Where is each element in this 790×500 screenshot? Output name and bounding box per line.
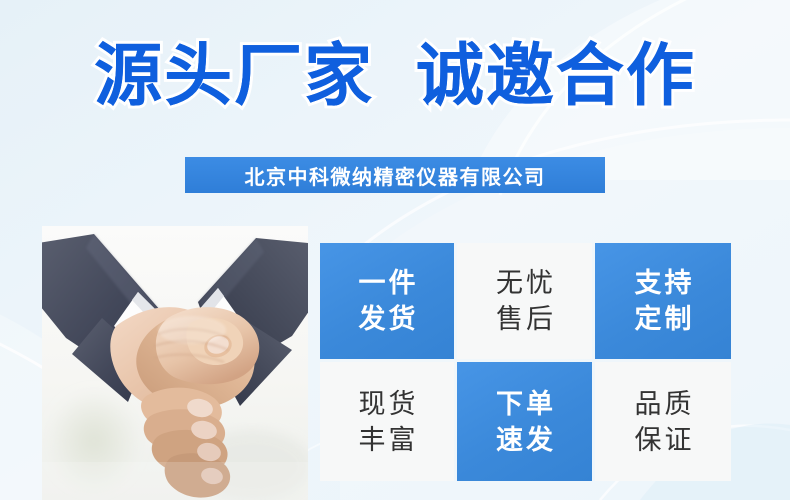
feature-tile-5-line1: 下单	[493, 386, 556, 422]
feature-tile-6-line1: 品质	[632, 386, 695, 422]
feature-tile-1-line1: 一件	[356, 265, 419, 301]
feature-tile-2[interactable]: 无忧 售后	[457, 243, 592, 359]
feature-tile-6-line2: 保证	[632, 422, 695, 458]
company-name-bar: 北京中科微纳精密仪器有限公司	[185, 157, 605, 193]
feature-tile-1-line2: 发货	[356, 301, 419, 337]
company-name-text: 北京中科微纳精密仪器有限公司	[245, 161, 546, 190]
feature-tile-3[interactable]: 支持 定制	[595, 243, 731, 359]
feature-grid: 一件 发货 无忧 售后 支持 定制 现货 丰富 下单 速发 品质 保证	[320, 243, 731, 495]
feature-tile-2-line1: 无忧	[493, 265, 556, 301]
page-title: 源头厂家 诚邀合作	[0, 36, 790, 116]
feature-tile-1[interactable]: 一件 发货	[320, 243, 454, 359]
feature-tile-5-line2: 速发	[493, 422, 556, 458]
handshake-photo	[42, 226, 308, 500]
feature-tile-4-line1: 现货	[356, 386, 419, 422]
feature-tile-4[interactable]: 现货 丰富	[320, 362, 454, 481]
feature-tile-5[interactable]: 下单 速发	[457, 362, 592, 481]
feature-tile-3-line1: 支持	[632, 265, 695, 301]
feature-tile-4-line2: 丰富	[356, 422, 419, 458]
feature-tile-2-line2: 售后	[493, 301, 556, 337]
handshake-illustration	[42, 226, 308, 500]
promo-banner: 源头厂家 诚邀合作 源头厂家 诚邀合作 北京中科微纳精密仪器有限公司	[0, 0, 790, 500]
feature-tile-6[interactable]: 品质 保证	[595, 362, 731, 481]
feature-tile-3-line2: 定制	[632, 301, 695, 337]
